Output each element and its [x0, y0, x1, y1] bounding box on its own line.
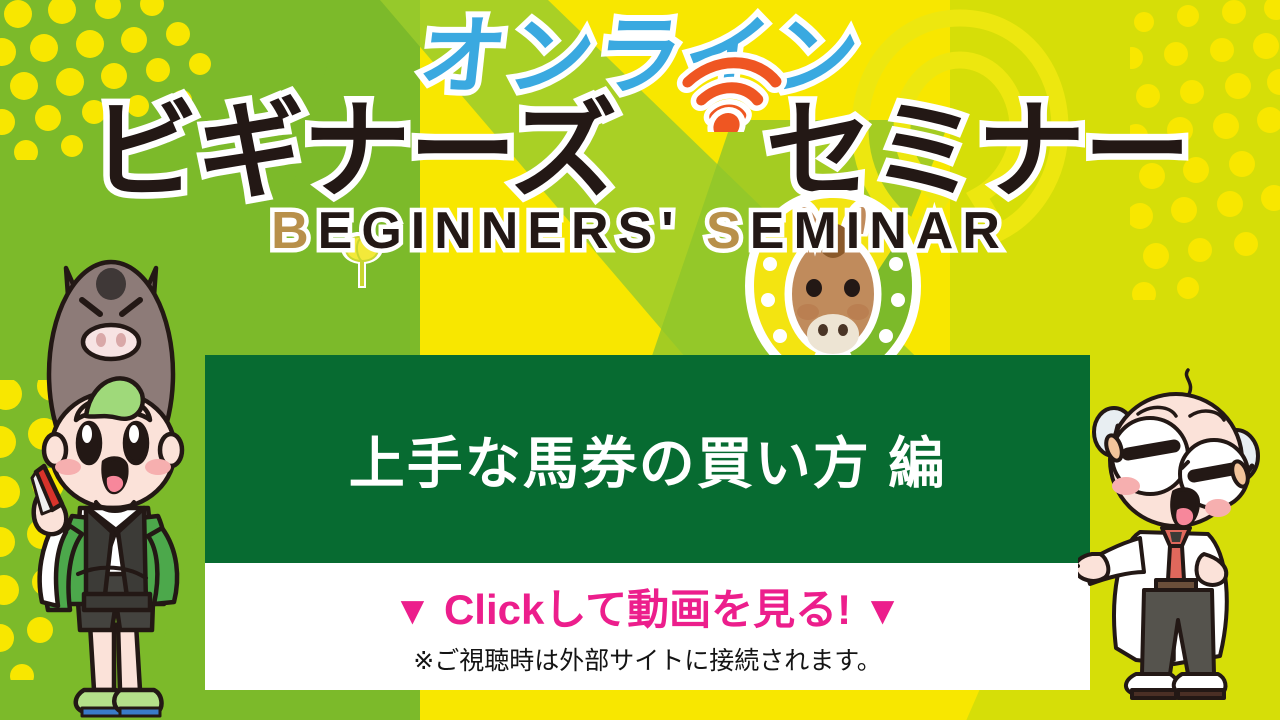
english-seminar: EMINAR [750, 202, 1009, 260]
panel-cta-area[interactable]: ▼ Clickして動画を見る! ▼ ※ご視聴時は外部サイトに接続されます。 [205, 563, 1090, 690]
external-site-note: ※ご視聴時は外部サイトに接続されます。 [413, 641, 881, 677]
video-link-panel[interactable]: 上手な馬券の買い方 編 ▼ Clickして動画を見る! ▼ ※ご視聴時は外部サイ… [205, 355, 1090, 690]
seminar-banner[interactable]: オンライン ビギナーズセミナー [0, 0, 1280, 720]
cta-arrow-left-icon: ▼ [393, 589, 433, 633]
cta-label[interactable]: Clickして動画を見る! [444, 586, 851, 633]
title-line-online: オンライン [415, 14, 866, 100]
cta-line[interactable]: ▼ Clickして動画を見る! ▼ [393, 576, 903, 637]
panel-topic-title: 上手な馬券の買い方 編 [349, 419, 947, 500]
panel-topic-area: 上手な馬券の買い方 編 [205, 355, 1090, 563]
cta-arrow-right-icon: ▼ [863, 589, 903, 633]
english-initial-s: S [706, 202, 750, 260]
english-initial-b: B [271, 202, 318, 260]
professor-mascot-pointing [1078, 368, 1278, 720]
title-beginners-kana: ビギナーズ [91, 90, 616, 211]
boy-mascot-with-horse-hat [8, 238, 223, 720]
title-block: オンライン ビギナーズセミナー [0, 14, 1280, 261]
title-line-main: ビギナーズセミナー [91, 94, 1190, 207]
english-beginners: EGINNERS' [318, 202, 683, 260]
